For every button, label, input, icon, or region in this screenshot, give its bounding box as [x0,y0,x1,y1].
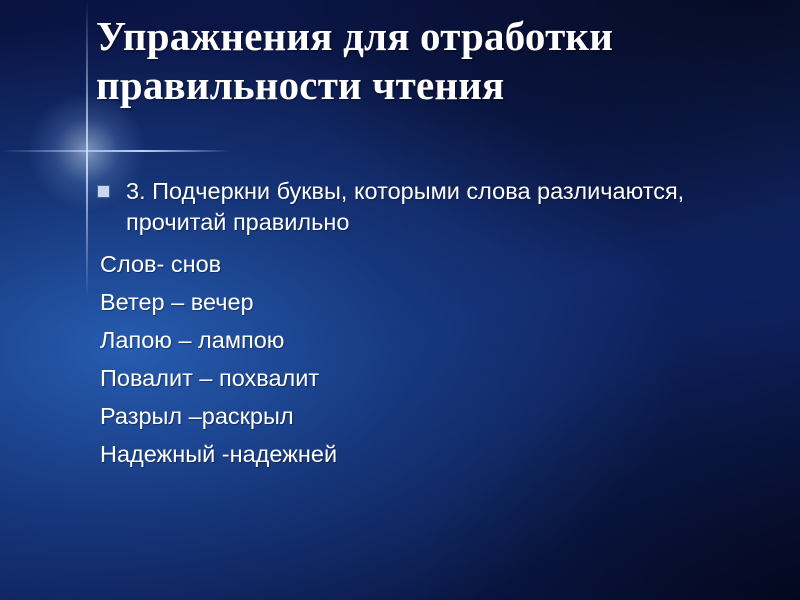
word-pair-line: Лапою – лампою [96,325,716,356]
slide: Упражнения для отработки правильности чт… [0,0,800,600]
square-bullet-icon [98,186,109,197]
slide-body: 3. Подчеркни буквы, которыми слова разли… [96,176,716,477]
word-pair-line: Надежный -надежней [96,439,716,470]
slide-title: Упражнения для отработки правильности чт… [96,12,756,110]
vertical-line-icon [86,0,88,300]
word-pair-line: Повалит – похвалит [96,363,716,394]
word-pair-line: Разрыл –раскрыл [96,401,716,432]
word-pair-line: Слов- снов [96,249,716,280]
bullet-list-item-label: 3. Подчеркни буквы, которыми слова разли… [126,178,684,235]
word-pair-line: Ветер – вечер [96,287,716,318]
horizontal-line-icon [0,150,230,152]
bullet-list-item: 3. Подчеркни буквы, которыми слова разли… [96,176,716,239]
